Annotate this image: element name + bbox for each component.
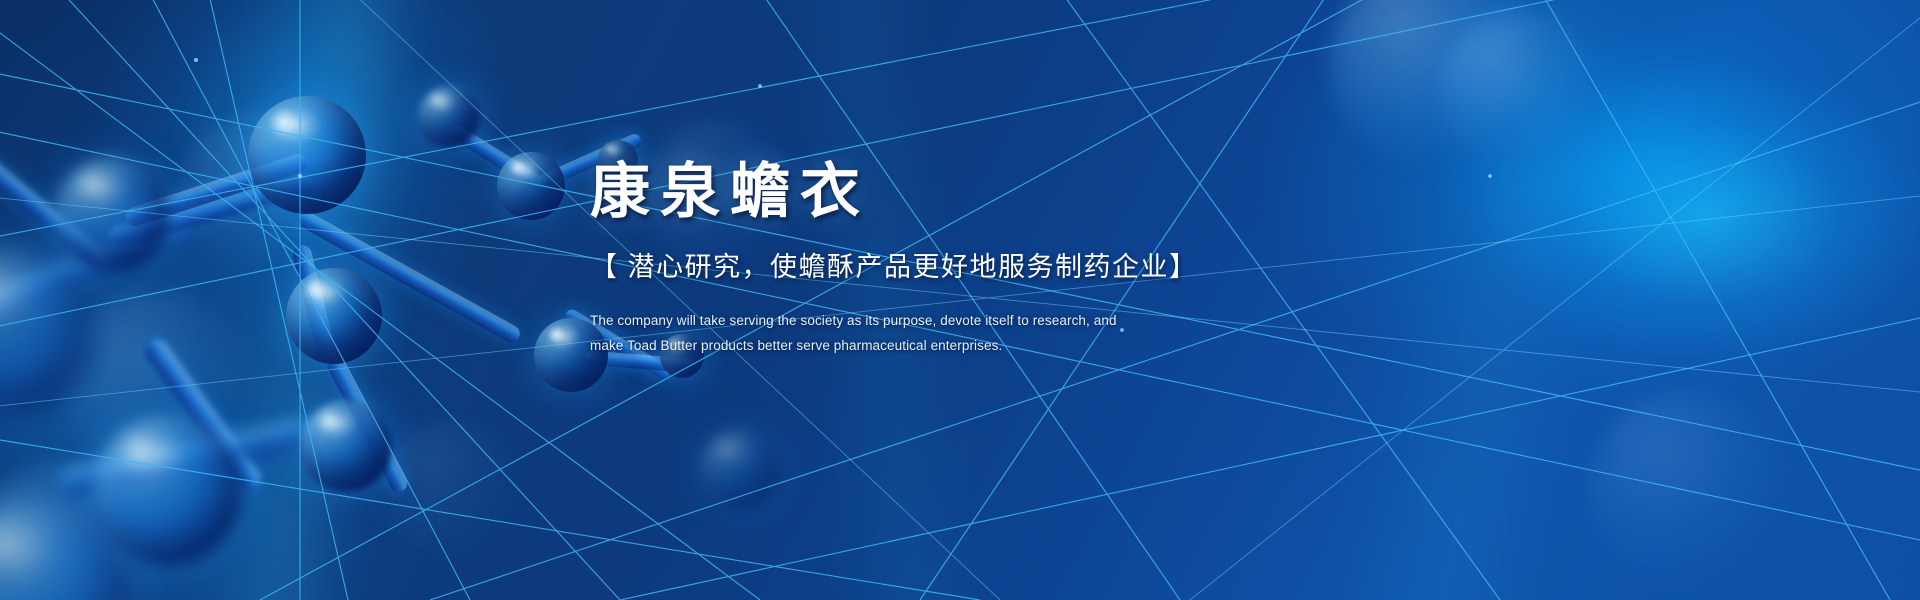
description-line-1: The company will take serving the societ… [590, 308, 1770, 333]
bokeh-sphere [1330, 0, 1540, 170]
bokeh-sphere [1440, 10, 1600, 170]
molecule-atom [286, 268, 382, 364]
molecule-atom [418, 86, 480, 148]
molecule-atom [55, 158, 170, 273]
banner-copy: 康泉蟾衣 【 潜心研究，使蟾酥产品更好地服务制药企业】 The company … [590, 160, 1770, 358]
banner-title: 康泉蟾衣 [590, 160, 1770, 223]
banner-description: The company will take serving the societ… [590, 308, 1770, 358]
molecule-atom [300, 400, 392, 492]
molecule-atom [497, 152, 565, 220]
banner-subtitle: 【 潜心研究，使蟾酥产品更好地服务制药企业】 [590, 245, 1770, 284]
hero-banner: 康泉蟾衣 【 潜心研究，使蟾酥产品更好地服务制药企业】 The company … [0, 0, 1920, 600]
molecule-atom [248, 96, 366, 214]
bokeh-sphere [1590, 390, 1790, 590]
description-line-2: make Toad Butter products better serve p… [590, 333, 1770, 358]
molecule-atom [700, 430, 780, 510]
